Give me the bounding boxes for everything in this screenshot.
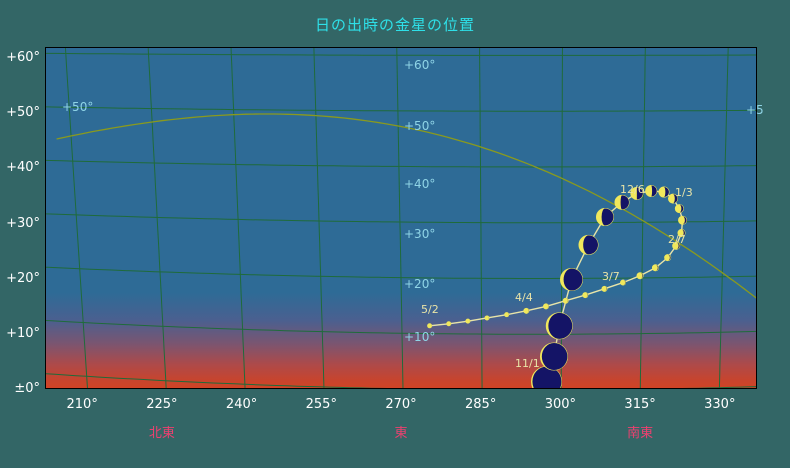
date-label-6: 5/2 — [421, 303, 439, 316]
venus-phase-disk — [652, 265, 658, 271]
venus-phase-disk — [583, 293, 588, 298]
date-label-3: 2/7 — [668, 233, 686, 246]
venus-phase-disk — [428, 324, 432, 328]
venus-phase-disk — [621, 280, 626, 285]
date-label-2: 1/3 — [675, 186, 693, 199]
grid-label-4: +30° — [404, 227, 435, 241]
x-tick-2: 240° — [212, 397, 272, 412]
x-tick-4: 270° — [371, 397, 431, 412]
y-tick-1: +50° — [0, 105, 40, 120]
x-tick-7: 315° — [610, 397, 670, 412]
venus-phase-disk — [466, 319, 470, 323]
plot-area — [45, 47, 757, 389]
grid-label-6: +10° — [404, 330, 435, 344]
venus-phase-disk — [615, 195, 629, 209]
venus-phase-disk — [546, 313, 572, 339]
venus-phase-disk — [563, 298, 568, 303]
venus-phase-disk — [579, 235, 598, 254]
page-title: 日の出時の金星の位置 — [0, 14, 790, 35]
grid-label-1: +60° — [404, 58, 435, 72]
venus-sunrise-chart: 日の出時の金星の位置 +60°+50°+40°+30°+20°+10°±0° 2… — [0, 0, 790, 468]
grid-label-3: +40° — [404, 177, 435, 191]
venus-phase-disk — [659, 187, 669, 197]
venus-phase-disk — [540, 343, 567, 370]
x-tick-1: 225° — [132, 397, 192, 412]
venus-phase-disk — [447, 322, 451, 326]
y-tick-6: ±0° — [0, 381, 40, 396]
venus-phase-disk — [543, 304, 548, 309]
y-tick-5: +10° — [0, 326, 40, 341]
venus-phase-disk — [675, 205, 683, 213]
x-tick-8: 330° — [690, 397, 750, 412]
grid-label-0: +50° — [62, 100, 93, 114]
y-tick-3: +30° — [0, 216, 40, 231]
venus-phase-disk — [646, 186, 657, 197]
venus-phase-disk — [596, 208, 613, 225]
plot-graphics — [46, 48, 757, 389]
grid-label-2: +50° — [404, 119, 435, 133]
venus-phase-disk — [665, 255, 671, 261]
x-tick-0: 210° — [52, 397, 112, 412]
date-label-1: 12/6 — [620, 183, 645, 196]
venus-phase-disk — [505, 313, 509, 317]
venus-phase-disk — [485, 316, 489, 320]
y-tick-2: +40° — [0, 160, 40, 175]
y-tick-0: +60° — [0, 50, 40, 65]
venus-phase-disk — [602, 286, 607, 291]
x-tick-5: 285° — [451, 397, 511, 412]
y-tick-4: +20° — [0, 271, 40, 286]
direction-label-2: 南東 — [610, 422, 670, 441]
grid-label-5: +20° — [404, 277, 435, 291]
x-tick-6: 300° — [530, 397, 590, 412]
x-tick-3: 255° — [291, 397, 351, 412]
venus-phase-disk — [637, 273, 643, 279]
date-label-4: 3/7 — [602, 270, 620, 283]
date-label-0: 11/1 — [515, 357, 540, 370]
venus-phase-disk — [679, 216, 687, 224]
grid-label-7: +5 — [746, 103, 764, 117]
venus-phase-disk — [524, 308, 529, 313]
direction-label-1: 東 — [371, 422, 431, 441]
venus-phase-disk — [560, 269, 582, 291]
direction-label-0: 北東 — [132, 422, 192, 441]
date-label-5: 4/4 — [515, 291, 533, 304]
